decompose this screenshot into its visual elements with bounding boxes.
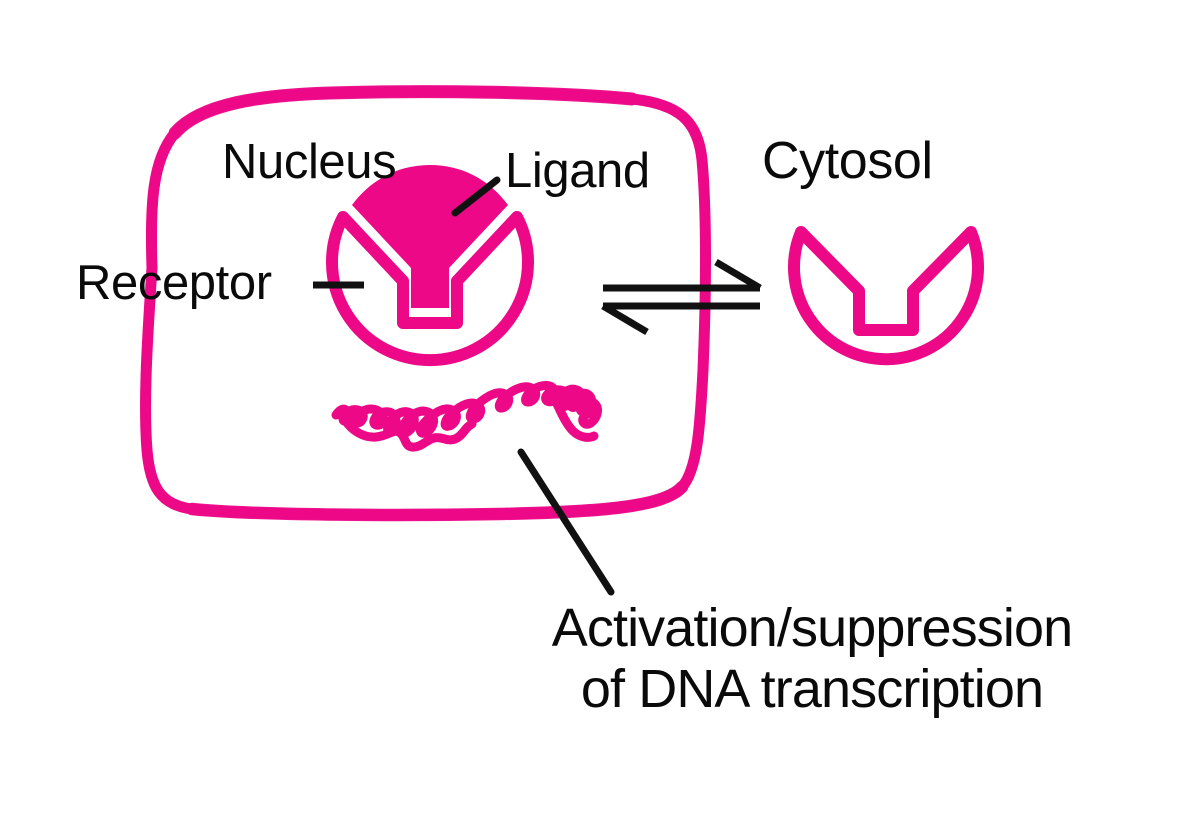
figure-canvas: Nucleus Ligand Cytosol Receptor Activati… [0, 0, 1200, 830]
label-receptor: Receptor [76, 258, 272, 310]
dna-strand [336, 385, 597, 447]
caption-line-1: Activation/suppression [462, 598, 1162, 659]
equilibrium-arrows [603, 262, 760, 332]
label-cytosol: Cytosol [762, 134, 933, 189]
caption-line-2: of DNA transcription [462, 659, 1162, 720]
caption-transcription: Activation/suppression of DNA transcript… [462, 598, 1162, 720]
label-nucleus: Nucleus [222, 137, 396, 189]
leader-line-transcription [521, 452, 611, 592]
receptor-free-outline [794, 232, 978, 359]
receptor-ligand-complex [332, 165, 528, 360]
label-ligand: Ligand [505, 146, 650, 198]
